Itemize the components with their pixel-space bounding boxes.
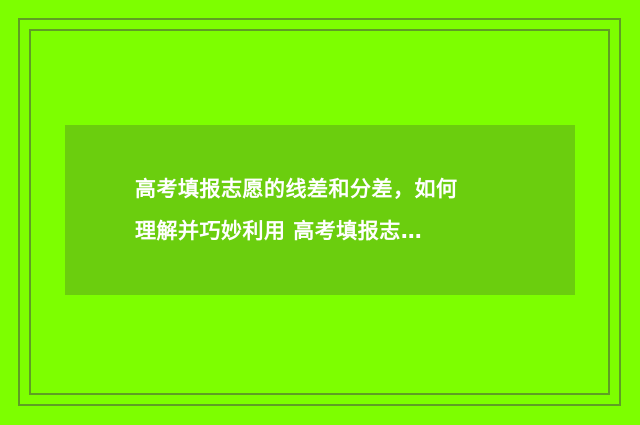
poster-canvas: 高考填报志愿的线差和分差，如何 理解并巧妙利用 高考填报志… <box>0 0 640 425</box>
headline-text-block: 高考填报志愿的线差和分差，如何 理解并巧妙利用 高考填报志… <box>65 125 575 295</box>
headline-line-2: 理解并巧妙利用 高考填报志… <box>135 210 505 252</box>
headline-line-1: 高考填报志愿的线差和分差，如何 <box>135 168 505 210</box>
